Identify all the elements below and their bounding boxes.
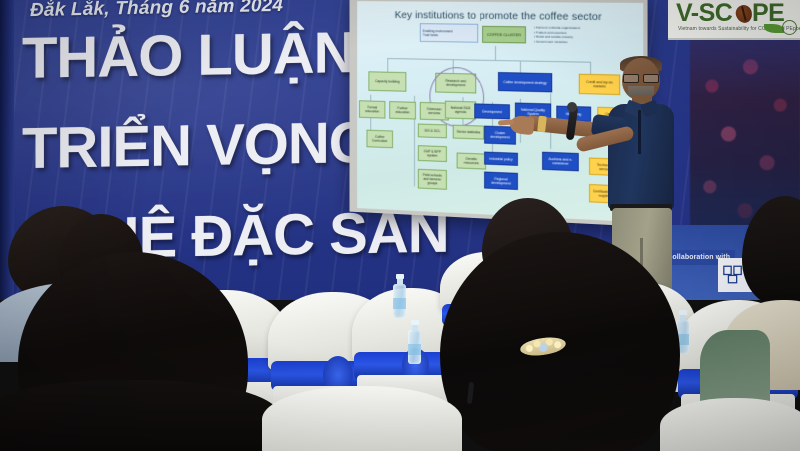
- connector: [414, 125, 415, 186]
- slide-node-sector-statistics: Sector statistics: [453, 125, 484, 140]
- banner-headline-line-2: TRIỂN VỌNG: [22, 109, 373, 182]
- presenter-glasses-icon: [622, 74, 660, 81]
- slide-node-field-schools-farmers-groups: Field schools and farmers' groups: [418, 169, 447, 190]
- slide-node-industrial-policy: Industrial policy: [484, 152, 518, 166]
- conference-photo-scene: Đắk Lắk, Tháng 6 năm 2024 THẢO LUẬN TRIỂ…: [0, 0, 800, 451]
- slide-node-gis-dcl: GIS & DCL: [418, 124, 447, 139]
- water-bottle: [393, 284, 406, 318]
- vscope-word-left: V-SC: [676, 1, 732, 26]
- connector: [387, 58, 590, 63]
- bottle-label: [393, 298, 406, 309]
- vscope-word-right: PE: [752, 1, 784, 26]
- slide-node-capacity-building: Capacity building: [368, 71, 406, 91]
- slide-node-coffee-development-strategy: Coffee development strategy: [498, 72, 552, 92]
- connector: [387, 58, 388, 72]
- slide-node-coffee-curriculum: Coffee Curriculum: [367, 130, 393, 149]
- slide-callout-line-2: Trust funds: [423, 33, 453, 37]
- foreground-chair-cover: [660, 398, 800, 451]
- presenter-shirt-placket: [638, 110, 641, 154]
- water-bottle: [408, 330, 421, 364]
- slide-node-regional-development: Regional development: [484, 172, 518, 190]
- vscope-logo: V-SC PE Vietnam towards Sustainability f…: [668, 0, 800, 40]
- slide-title: Key institutions to promote the coffee s…: [357, 9, 643, 24]
- slide-bullet-3: Government ministries: [534, 39, 633, 45]
- banner-headline-line-1: THẢO LUẬN: [22, 19, 355, 92]
- slide-node-national-rnd-agenda: National R&D agenda: [445, 101, 476, 120]
- slide-node-auctions-ecommerce: Auctions and e-commerce: [542, 152, 579, 172]
- microphone-head: [567, 102, 577, 112]
- certification-emblem-icon: [782, 20, 797, 35]
- slide-node-coffee-cluster: COFFEE CLUSTER: [482, 26, 526, 44]
- presenter-wristwatch: [537, 116, 547, 133]
- slide-node-gap-bpp-system: GAP & BPP system: [418, 145, 447, 162]
- connector: [495, 46, 496, 60]
- slide-bullet-list: Farmers umbrella organizations Traders a…: [534, 25, 633, 45]
- slide-node-genetic-resources: Genetic resources: [457, 153, 486, 170]
- slide-node-development: Development: [474, 103, 510, 119]
- slide-node-further-education: Further education: [389, 101, 416, 119]
- foreground-chair-cover: [262, 386, 462, 451]
- foreground-audience-shoulders: [0, 380, 280, 451]
- slide-node-formal-education: Formal education: [359, 100, 385, 118]
- bottle-label: [408, 344, 421, 355]
- slide-callout: Enabling environment Trust funds: [420, 23, 478, 43]
- partner-logo-icon: [722, 263, 744, 286]
